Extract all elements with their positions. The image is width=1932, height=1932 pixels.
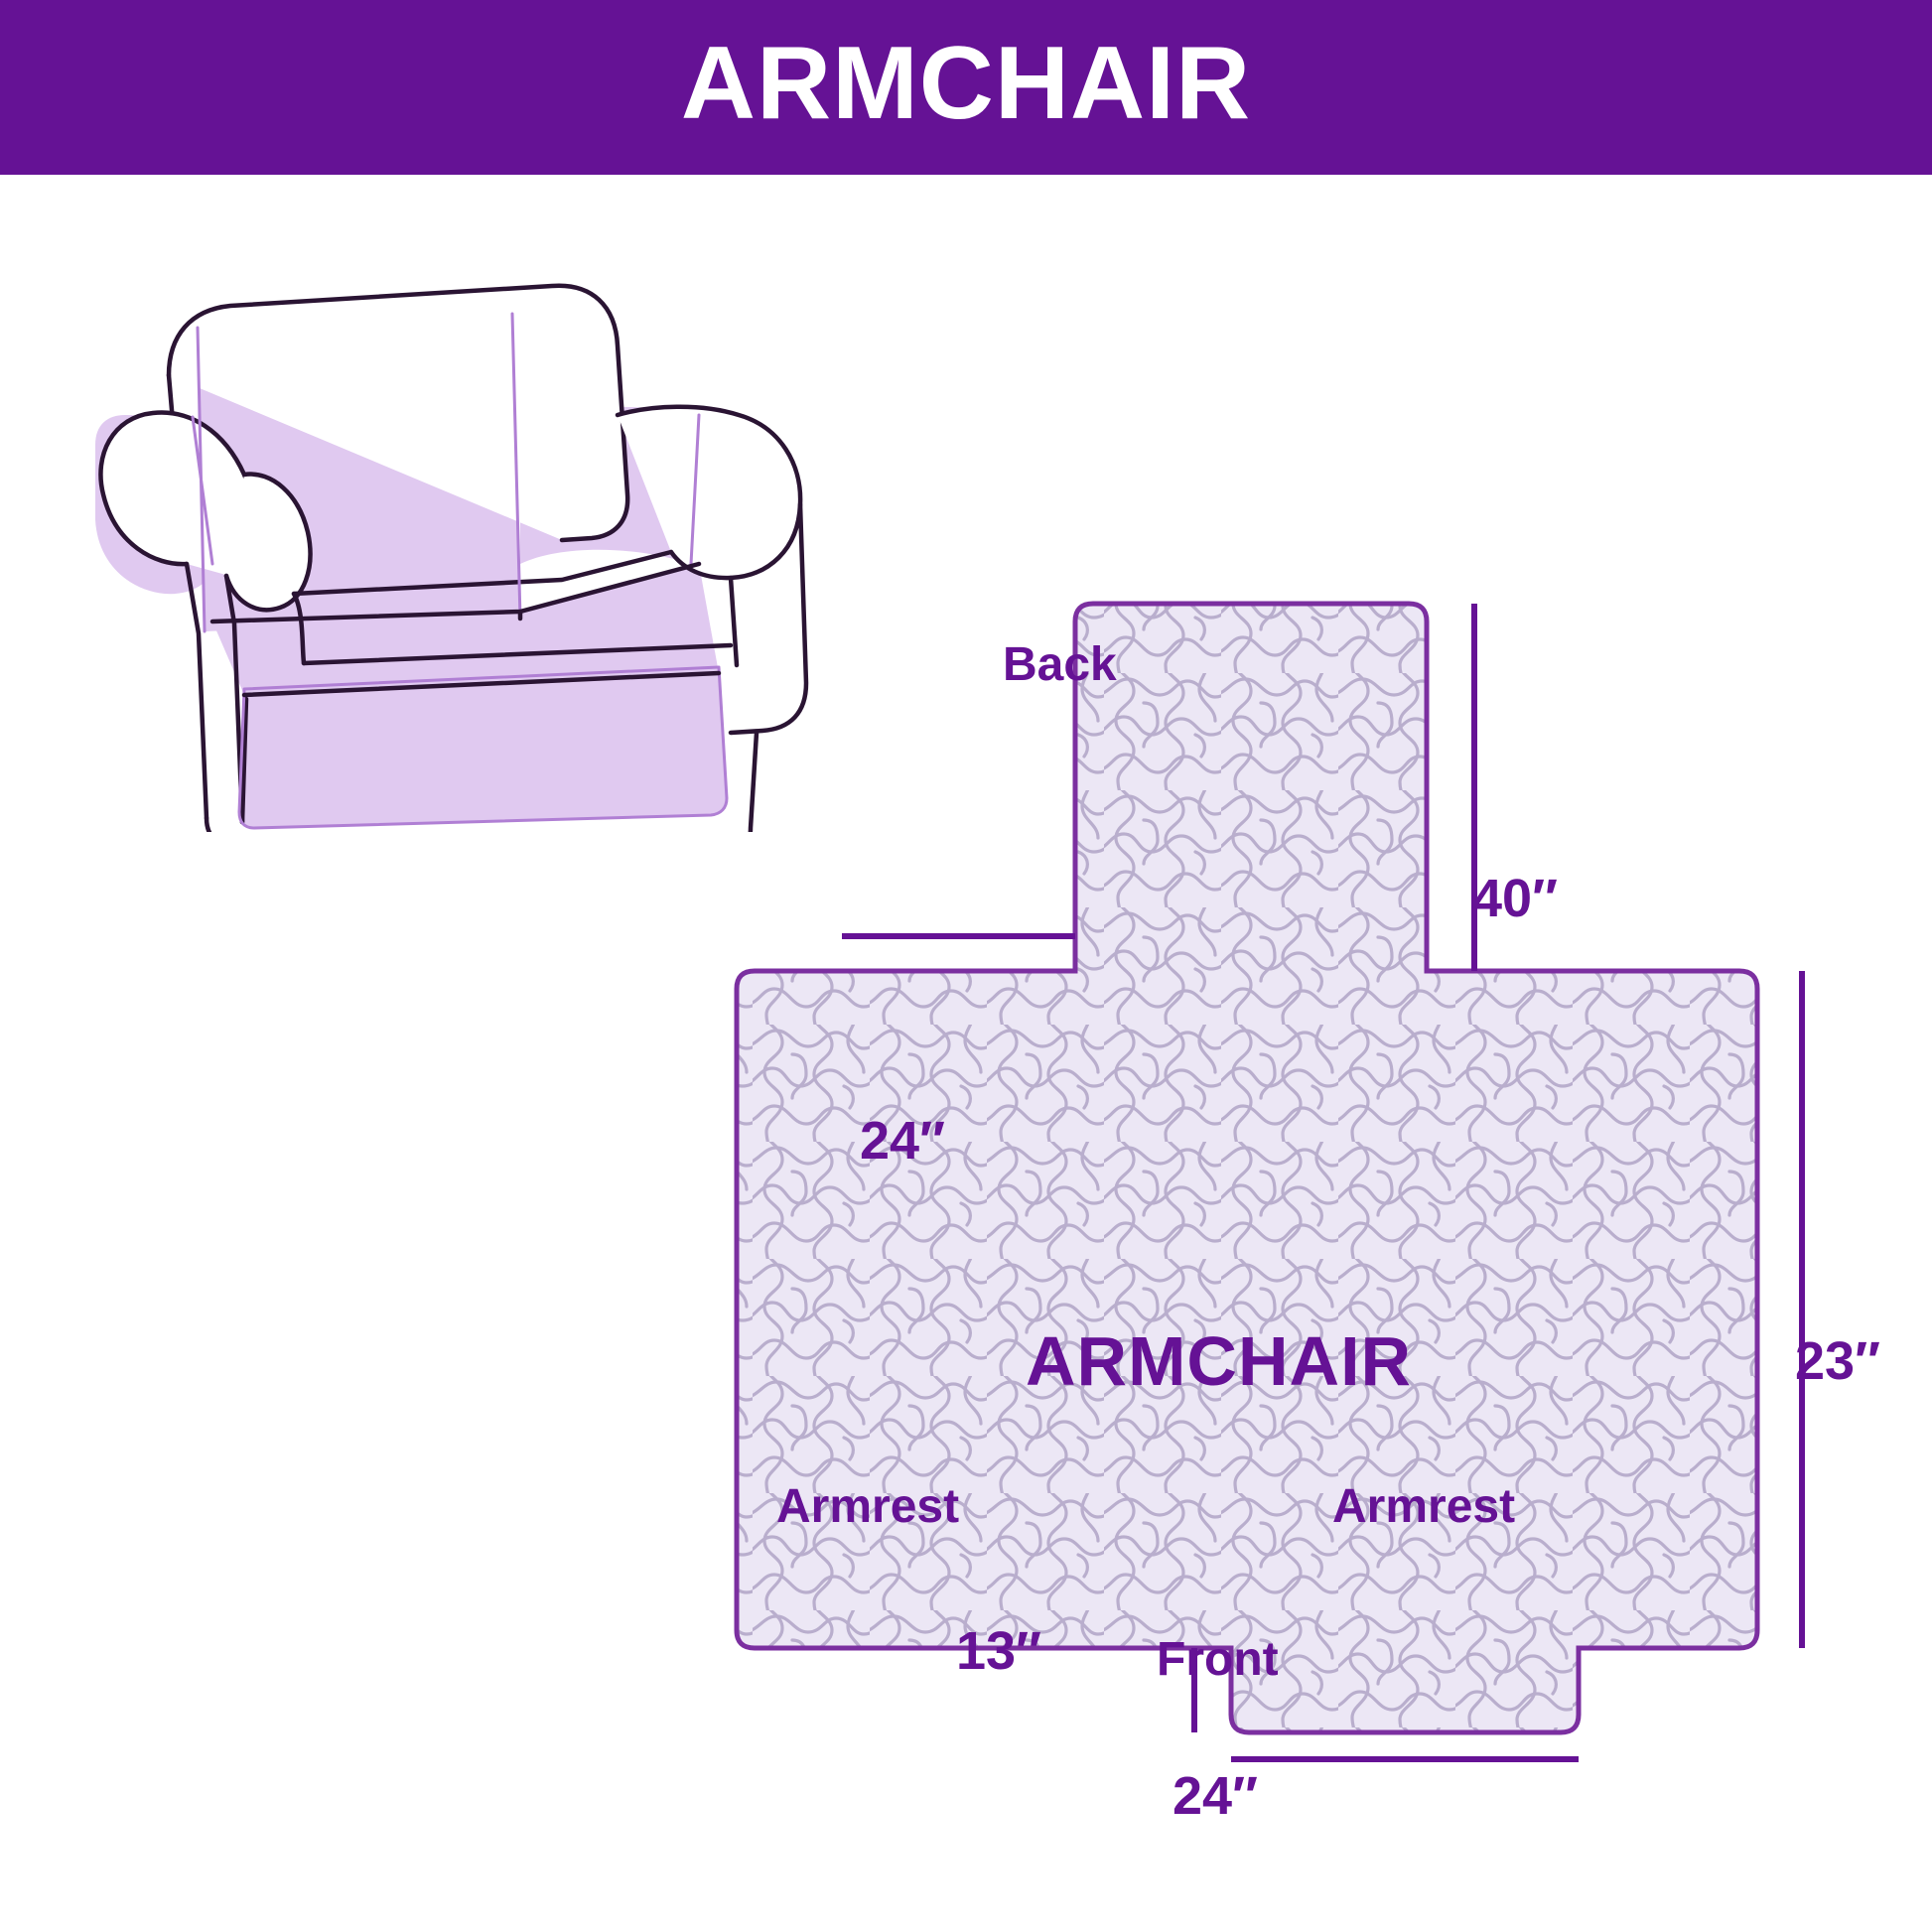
panel-label-armrest-left: Armrest — [776, 1483, 959, 1531]
cover-layout-diagram — [635, 556, 1926, 1866]
dimension-label-front-height: 13″ — [956, 1624, 1041, 1678]
panel-label-armrest-right: Armrest — [1332, 1483, 1515, 1531]
panel-label-back: Back — [1003, 641, 1117, 689]
cover-layout-svg — [635, 556, 1926, 1866]
panel-label-center: ARMCHAIR — [1026, 1326, 1412, 1396]
panel-label-front: Front — [1157, 1636, 1279, 1684]
dimension-label-back-width: 24″ — [860, 1114, 945, 1168]
dimension-label-center-height: 23″ — [1795, 1334, 1880, 1388]
dimension-label-front-width: 24″ — [1173, 1769, 1258, 1823]
header-banner: ARMCHAIR — [0, 0, 1932, 175]
dimension-label-back-height: 40″ — [1472, 872, 1558, 925]
page-title: ARMCHAIR — [681, 32, 1251, 135]
